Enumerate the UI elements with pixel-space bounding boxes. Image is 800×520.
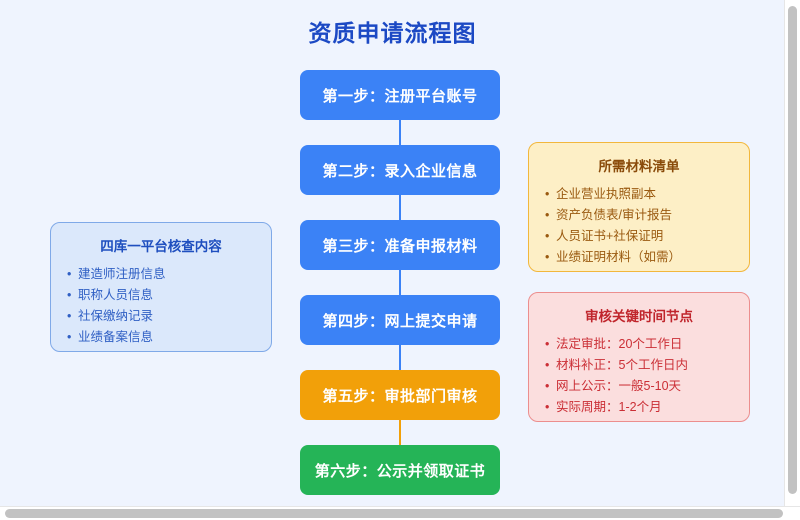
flow-node-step-3[interactable]: 第三步：准备申报材料: [300, 220, 500, 270]
flow-node-step-2[interactable]: 第二步：录入企业信息: [300, 145, 500, 195]
flow-node-step-4[interactable]: 第四步：网上提交申请: [300, 295, 500, 345]
panel-required-materials: 所需材料清单 企业营业执照副本 资产负债表/审计报告 人员证书+社保证明 业绩证…: [528, 142, 750, 272]
flow-node-step-4-label: 第四步：网上提交申请: [322, 310, 477, 331]
list-item: 法定审批：20个工作日: [545, 334, 733, 355]
connector-step-4-to-5: [399, 345, 401, 370]
panel-timing-list: 法定审批：20个工作日 材料补正：5个工作日内 网上公示：一般5-10天 实际周…: [545, 334, 733, 418]
flow-node-step-3-label: 第三步：准备申报材料: [322, 235, 477, 256]
vertical-scrollbar[interactable]: [784, 0, 800, 508]
list-item: 业绩备案信息: [67, 327, 255, 348]
flow-node-step-1-label: 第一步：注册平台账号: [322, 85, 477, 106]
connector-step-3-to-4: [399, 270, 401, 295]
panel-materials-list: 企业营业执照副本 资产负债表/审计报告 人员证书+社保证明 业绩证明材料（如需）: [545, 184, 733, 268]
panel-materials-title: 所需材料清单: [545, 155, 733, 175]
flowchart-canvas: 资质申请流程图 第一步：注册平台账号 第二步：录入企业信息 第三步：准备申报材料…: [0, 0, 800, 520]
flow-node-step-5[interactable]: 第五步：审批部门审核: [300, 370, 500, 420]
list-item: 网上公示：一般5-10天: [545, 376, 733, 397]
connector-step-2-to-3: [399, 195, 401, 220]
flow-node-step-1[interactable]: 第一步：注册平台账号: [300, 70, 500, 120]
list-item: 材料补正：5个工作日内: [545, 355, 733, 376]
flow-node-step-2-label: 第二步：录入企业信息: [322, 160, 477, 181]
panel-siku-yiping-tai: 四库一平台核查内容 建造师注册信息 职称人员信息 社保缴纳记录 业绩备案信息: [50, 222, 272, 352]
list-item: 企业营业执照副本: [545, 184, 733, 205]
vertical-scrollbar-thumb[interactable]: [788, 6, 797, 494]
connector-step-5-to-6: [399, 420, 401, 445]
panel-siku-list: 建造师注册信息 职称人员信息 社保缴纳记录 业绩备案信息: [67, 264, 255, 348]
list-item: 社保缴纳记录: [67, 306, 255, 327]
panel-siku-title: 四库一平台核查内容: [67, 235, 255, 255]
horizontal-scrollbar-thumb[interactable]: [5, 509, 783, 518]
page-title: 资质申请流程图: [0, 14, 785, 48]
list-item: 资产负债表/审计报告: [545, 205, 733, 226]
flow-node-step-5-label: 第五步：审批部门审核: [322, 385, 477, 406]
list-item: 实际周期：1-2个月: [545, 397, 733, 418]
panel-timing-title: 审核关键时间节点: [545, 305, 733, 325]
panel-review-timeline: 审核关键时间节点 法定审批：20个工作日 材料补正：5个工作日内 网上公示：一般…: [528, 292, 750, 422]
list-item: 业绩证明材料（如需）: [545, 247, 733, 268]
list-item: 职称人员信息: [67, 285, 255, 306]
connector-step-1-to-2: [399, 120, 401, 145]
flow-node-step-6[interactable]: 第六步：公示并领取证书: [300, 445, 500, 495]
list-item: 建造师注册信息: [67, 264, 255, 285]
horizontal-scrollbar[interactable]: [0, 506, 800, 520]
list-item: 人员证书+社保证明: [545, 226, 733, 247]
flow-node-step-6-label: 第六步：公示并领取证书: [315, 460, 486, 481]
